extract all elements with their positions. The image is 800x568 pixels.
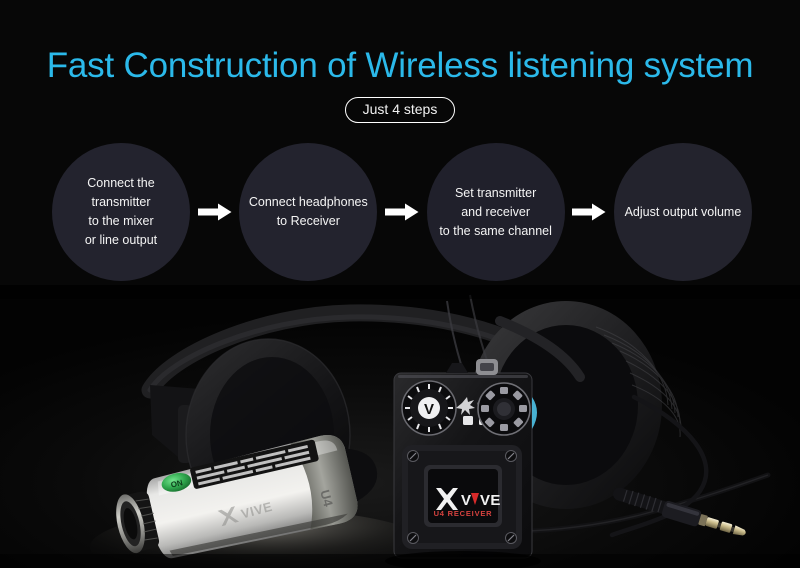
step-3-text: Set transmitter and receiver to the same…: [439, 184, 552, 241]
step-circle-1: Connect the transmitter to the mixer or …: [52, 143, 190, 281]
receiver-model-label: U4 RECEIVER: [434, 509, 493, 518]
step-2-line-1: Connect headphones: [249, 195, 368, 209]
step-4-line-1: Adjust output volume: [625, 205, 742, 219]
step-1-line-2: transmitter: [91, 195, 150, 209]
product-photo: ON VIVE U4: [0, 285, 800, 568]
step-1-text: Connect the transmitter to the mixer or …: [85, 174, 157, 250]
receiver-channel-dial: [478, 383, 530, 435]
receiver-volume-dial: V: [402, 381, 456, 435]
badge-container: Just 4 steps: [0, 97, 800, 123]
steps-count-badge: Just 4 steps: [345, 97, 456, 123]
arrow-right-icon-2: [385, 203, 419, 221]
step-1-line-4: or line output: [85, 233, 157, 247]
step-4-text: Adjust output volume: [625, 203, 742, 222]
arrow-right-icon-3: [572, 203, 606, 221]
poster-root: Fast Construction of Wireless listening …: [0, 0, 800, 568]
step-3-line-3: to the same channel: [439, 224, 552, 238]
step-circle-2: Connect headphones to Receiver: [239, 143, 377, 281]
step-2-text: Connect headphones to Receiver: [249, 193, 368, 231]
svg-text:VE: VE: [480, 492, 501, 509]
step-1-line-1: Connect the: [87, 176, 154, 190]
svg-text:V: V: [424, 401, 434, 418]
receiver-graphic: V: [385, 359, 541, 568]
step-3-line-1: Set transmitter: [455, 186, 536, 200]
step-circle-3: Set transmitter and receiver to the same…: [427, 143, 565, 281]
step-2-line-2: to Receiver: [277, 214, 340, 228]
arrow-right-icon-1: [198, 203, 232, 221]
step-3-line-2: and receiver: [461, 205, 530, 219]
svg-text:V: V: [461, 492, 471, 509]
step-circle-4: Adjust output volume: [614, 143, 752, 281]
page-title: Fast Construction of Wireless listening …: [0, 46, 800, 86]
step-1-line-3: to the mixer: [88, 214, 153, 228]
steps-flow: Connect the transmitter to the mixer or …: [52, 139, 752, 285]
